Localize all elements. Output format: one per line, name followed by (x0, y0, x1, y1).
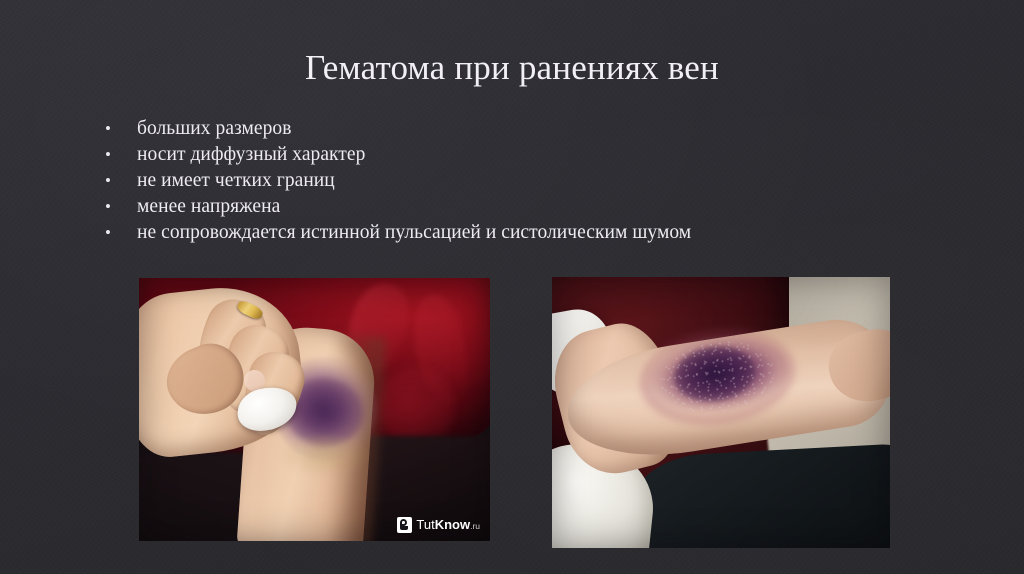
bullet-marker-icon: • (100, 220, 137, 246)
watermark-label: TutKnow.ru (416, 518, 480, 533)
bullet-marker-icon: • (100, 142, 137, 168)
photo-hematoma-forearm-large (552, 277, 890, 548)
presentation-slide: Гематома при ранениях вен • больших разм… (0, 0, 1024, 574)
photo-hematoma-forearm-cotton-pad: TutKnow.ru (139, 278, 490, 541)
list-item: • не имеет четких границ (100, 168, 980, 194)
photo-shirt-fold (378, 367, 455, 446)
list-item-label: менее напряжена (137, 194, 280, 220)
watermark: TutKnow.ru (393, 515, 484, 535)
list-item-label: больших размеров (137, 116, 291, 142)
watermark-suffix: .ru (470, 521, 480, 531)
bullet-marker-icon: • (100, 194, 137, 220)
list-item: • менее напряжена (100, 194, 980, 220)
photo-hematoma-yellow-halo (279, 436, 370, 478)
list-item: • не сопровождается истинной пульсацией … (100, 220, 980, 246)
list-item-label: не сопровождается истинной пульсацией и … (137, 220, 691, 246)
slide-title: Гематома при ранениях вен (0, 46, 1024, 90)
bullet-marker-icon: • (100, 168, 137, 194)
list-item: • носит диффузный характер (100, 142, 980, 168)
list-item: • больших размеров (100, 116, 980, 142)
tutknow-logo-icon (397, 517, 412, 533)
watermark-bold: Know (435, 517, 470, 532)
list-item-label: не имеет четких границ (137, 168, 335, 194)
bullet-list: • больших размеров • носит диффузный хар… (100, 116, 980, 246)
bullet-marker-icon: • (100, 116, 137, 142)
list-item-label: носит диффузный характер (137, 142, 365, 168)
watermark-prefix: Tut (416, 517, 434, 532)
